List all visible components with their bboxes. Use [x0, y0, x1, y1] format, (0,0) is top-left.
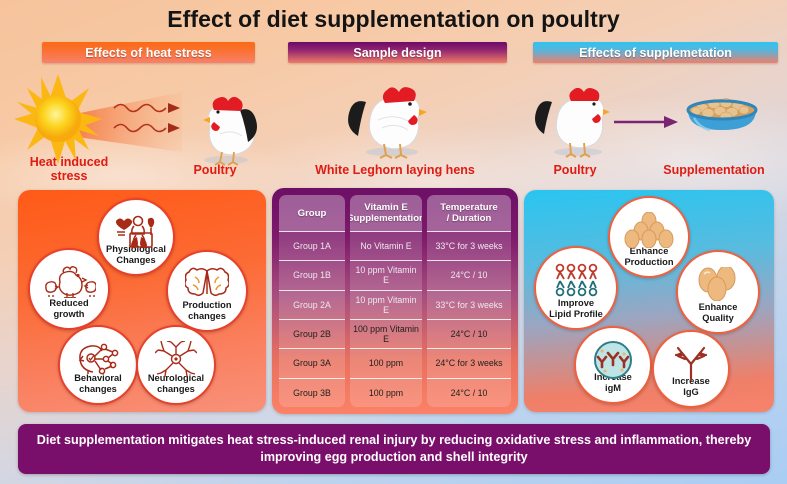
sample-design-table: Group Group 1A Group 1B Group 2A Group 2…: [279, 195, 511, 407]
bubble-label: Improve Lipid Profile: [538, 298, 615, 328]
bubble-increase-igg[interactable]: Increase IgG: [652, 330, 730, 408]
table-cell: Group 3B: [279, 378, 345, 407]
eggs-icon: [678, 263, 758, 305]
bubble-neurological-changes[interactable]: Neurological changes: [136, 325, 216, 405]
bubble-label: Enhance Quality: [680, 302, 757, 332]
infographic-poster: Effect of diet supplementation on poultr…: [0, 0, 787, 484]
white-leghorn-illustration: [340, 74, 450, 160]
column-header: Vitamin E Supplementation: [350, 195, 422, 231]
organs-icon: [99, 211, 173, 253]
caption-supplementation: Supplementation: [648, 163, 780, 177]
section-header-heat-stress: Effects of heat stress: [42, 42, 255, 63]
neuron-icon: [138, 338, 214, 380]
effects-of-heat-stress-panel: Physiological Changes: [18, 190, 266, 412]
sun-icon: [35, 96, 81, 142]
bubble-reduced-growth[interactable]: Reduced growth: [28, 248, 110, 330]
section-header-sample-design: Sample design: [288, 42, 507, 63]
bubble-physiological-changes[interactable]: Physiological Changes: [97, 198, 175, 276]
igm-cell-icon: [576, 339, 650, 381]
table-cell: Group 2B: [279, 319, 345, 348]
table-cell: No Vitamin E: [350, 231, 422, 260]
caption-white-leghorn: White Leghorn laying hens: [300, 163, 490, 177]
feed-bowl-icon: [688, 99, 756, 131]
conclusion-banner: Diet supplementation mitigates heat stre…: [18, 424, 770, 474]
arrow-icon: [614, 116, 678, 128]
bubble-behavioral-changes[interactable]: Behavioral changes: [58, 325, 138, 405]
table-cell: 33°C for 3 weeks: [427, 231, 511, 260]
bubble-improve-lipid-profile[interactable]: Improve Lipid Profile: [534, 246, 618, 330]
table-column-group: Group Group 1A Group 1B Group 2A Group 2…: [279, 195, 345, 407]
bubble-enhance-quality[interactable]: Enhance Quality: [676, 250, 760, 334]
page-title: Effect of diet supplementation on poultr…: [0, 6, 787, 33]
sample-design-panel: Group Group 1A Group 1B Group 2A Group 2…: [272, 188, 518, 414]
head-network-icon: [60, 338, 136, 380]
egg-stack-icon: [610, 209, 688, 251]
chicken-icon: [535, 88, 610, 157]
antibody-icon: [654, 343, 728, 385]
table-cell: Group 2A: [279, 290, 345, 319]
table-cell: 100 ppm: [350, 348, 422, 377]
caption-poultry-left: Poultry: [160, 163, 270, 177]
table-column-vitamin-e: Vitamin E Supplementation No Vitamin E 1…: [350, 195, 422, 407]
section-header-supplementation: Effects of supplemetation: [533, 42, 778, 63]
table-cell: 24°C / 10: [427, 378, 511, 407]
effects-of-supplementation-panel: Enhance Production: [524, 190, 774, 412]
table-cell: 24°C / 10: [427, 319, 511, 348]
table-cell: Group 3A: [279, 348, 345, 377]
table-cell: Group 1A: [279, 231, 345, 260]
lipid-chain-icon: [536, 259, 616, 301]
chicken-icon: [348, 87, 427, 158]
table-cell: 24°C / 10: [427, 260, 511, 289]
brain-icon: [168, 263, 246, 305]
caption-poultry-right: Poultry: [530, 163, 620, 177]
table-cell: 100 ppm Vitamin E: [350, 319, 422, 348]
table-cell: 100 ppm: [350, 378, 422, 407]
table-cell: 33°C for 3 weeks: [427, 290, 511, 319]
chicken-icon: [203, 97, 257, 165]
table-cell: 10 ppm Vitamin E: [350, 290, 422, 319]
table-cell: Group 1B: [279, 260, 345, 289]
column-header: Temperature / Duration: [427, 195, 511, 231]
table-column-temperature: Temperature / Duration 33°C for 3 weeks …: [427, 195, 511, 407]
chickens-icon: [30, 261, 108, 303]
caption-heat-induced-stress: Heat induced stress: [10, 155, 128, 183]
column-header: Group: [279, 195, 345, 231]
supplementation-illustration: [528, 72, 778, 164]
table-cell: 24°C for 3 weeks: [427, 348, 511, 377]
table-cell: 10 ppm Vitamin E: [350, 260, 422, 289]
bubble-production-changes[interactable]: Production changes: [166, 250, 248, 332]
bubble-increase-igm[interactable]: Increase igM: [574, 326, 652, 404]
